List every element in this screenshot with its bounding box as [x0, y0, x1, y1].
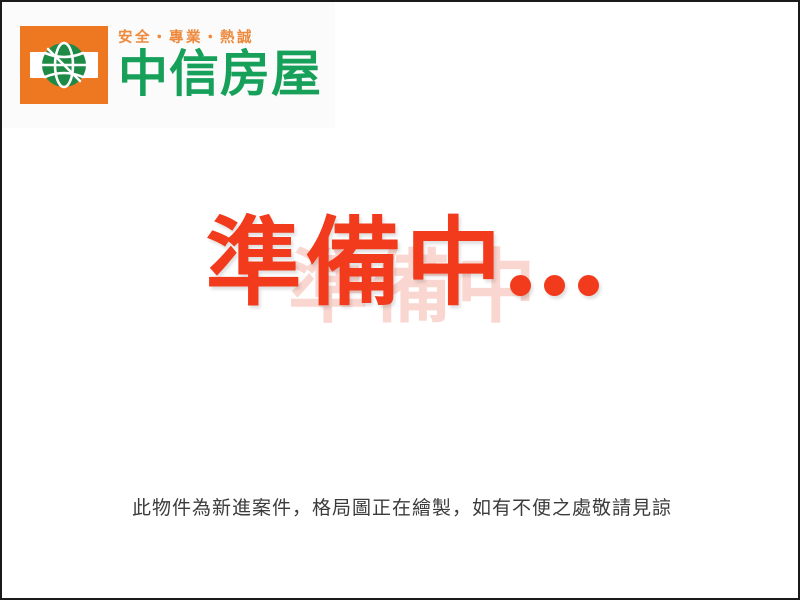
- status-headline-label: 準備中: [206, 207, 506, 319]
- chinatrust-realty-logo-icon: [20, 26, 108, 104]
- placeholder-card: 安全・專業・熱誠 中信房屋 準備中 準備中 此物件為新進案件，格局圖正在繪製，如…: [0, 0, 800, 600]
- status-ellipsis-icon: [510, 208, 599, 318]
- status-headline-text: 準備中: [2, 208, 800, 318]
- brand-wordmark: 安全・專業・熱誠 中信房屋: [118, 31, 322, 100]
- brand-name: 中信房屋: [118, 49, 322, 99]
- status-message: 準備中 準備中: [2, 208, 800, 348]
- brand-panel: 安全・專業・熱誠 中信房屋: [2, 2, 335, 128]
- brand-tagline: 安全・專業・熱誠: [118, 31, 322, 46]
- footer-note: 此物件為新進案件，格局圖正在繪製，如有不便之處敬請見諒: [2, 495, 800, 522]
